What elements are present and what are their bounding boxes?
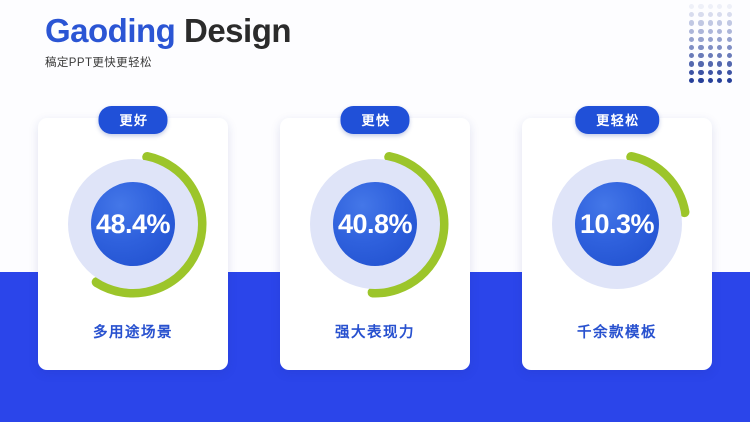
grid-dot (717, 20, 722, 25)
grid-dot (708, 12, 713, 17)
grid-dot (698, 37, 703, 42)
grid-dot (689, 29, 694, 34)
grid-dot (727, 4, 732, 9)
grid-dot (698, 53, 703, 58)
grid-dot (727, 29, 732, 34)
donut-chart: 40.8% (299, 148, 451, 300)
title-product: Design (184, 12, 291, 49)
grid-dot (698, 45, 703, 50)
grid-dot (727, 61, 732, 66)
grid-dot (727, 70, 732, 75)
slide-header: Gaoding Design 稿定PPT更快更轻松 (45, 12, 291, 70)
card-label: 多用途场景 (93, 321, 173, 342)
card-label: 强大表现力 (335, 321, 415, 342)
grid-dot (698, 70, 703, 75)
grid-dot (727, 12, 732, 17)
grid-dot (689, 45, 694, 50)
stat-card[interactable]: 更好48.4%多用途场景 (38, 118, 228, 370)
card-badge: 更快 (340, 106, 409, 134)
grid-dot (727, 20, 732, 25)
grid-dot (727, 37, 732, 42)
grid-dot (717, 4, 722, 9)
grid-dot (698, 78, 703, 83)
grid-dot (689, 70, 694, 75)
card-label: 千余款模板 (577, 321, 657, 342)
grid-dot (708, 61, 713, 66)
donut-value: 40.8% (338, 211, 412, 238)
grid-dot (717, 45, 722, 50)
grid-dot (689, 78, 694, 83)
grid-dot (727, 45, 732, 50)
grid-dot (689, 61, 694, 66)
grid-dot (727, 53, 732, 58)
grid-dot (689, 20, 694, 25)
grid-dot (708, 45, 713, 50)
grid-dot (698, 20, 703, 25)
donut-chart: 10.3% (541, 148, 693, 300)
donut-center: 48.4% (91, 182, 175, 266)
donut-value: 10.3% (580, 211, 654, 238)
dot-grid-decoration (689, 4, 736, 86)
grid-dot (689, 37, 694, 42)
donut-chart: 48.4% (57, 148, 209, 300)
grid-dot (689, 53, 694, 58)
donut-value: 48.4% (96, 211, 170, 238)
grid-dot (689, 12, 694, 17)
donut-center: 10.3% (575, 182, 659, 266)
grid-dot (708, 78, 713, 83)
grid-dot (698, 29, 703, 34)
grid-dot (708, 70, 713, 75)
title-brand: Gaoding (45, 12, 175, 49)
grid-dot (717, 37, 722, 42)
grid-dot (689, 4, 694, 9)
grid-dot (717, 53, 722, 58)
page-subtitle: 稿定PPT更快更轻松 (45, 54, 291, 70)
stat-cards-row: 更好48.4%多用途场景更快40.8%强大表现力更轻松10.3%千余款模板 (38, 118, 712, 370)
grid-dot (708, 29, 713, 34)
stat-card[interactable]: 更快40.8%强大表现力 (280, 118, 470, 370)
grid-dot (708, 37, 713, 42)
page-title: Gaoding Design (45, 12, 291, 50)
grid-dot (717, 12, 722, 17)
grid-dot (717, 29, 722, 34)
slide-canvas: Gaoding Design 稿定PPT更快更轻松 更好48.4%多用途场景更快… (0, 0, 750, 422)
grid-dot (708, 53, 713, 58)
grid-dot (708, 4, 713, 9)
grid-dot (717, 61, 722, 66)
grid-dot (698, 4, 703, 9)
grid-dot (708, 20, 713, 25)
stat-card[interactable]: 更轻松10.3%千余款模板 (522, 118, 712, 370)
grid-dot (698, 12, 703, 17)
card-badge: 更好 (98, 106, 167, 134)
donut-center: 40.8% (333, 182, 417, 266)
card-badge: 更轻松 (575, 106, 659, 134)
grid-dot (727, 78, 732, 83)
grid-dot (698, 61, 703, 66)
grid-dot (717, 78, 722, 83)
grid-dot (717, 70, 722, 75)
